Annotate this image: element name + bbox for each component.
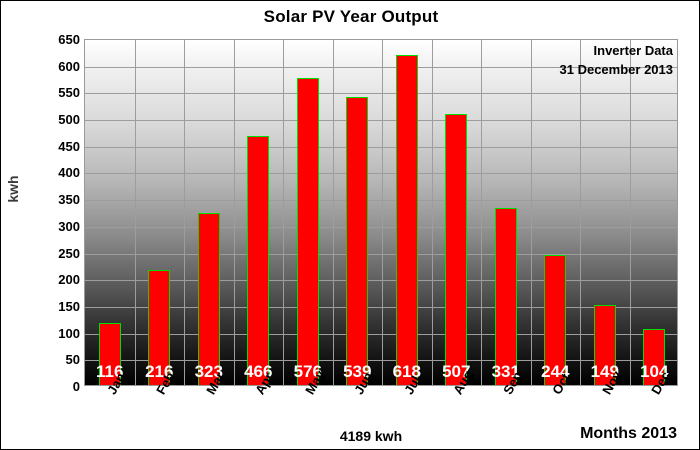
y-axis-label: kwh (5, 159, 21, 219)
y-tick-label: 450 (36, 140, 80, 153)
gridline-vertical (481, 40, 482, 385)
y-tick-label: 250 (36, 247, 80, 260)
gridline-vertical (234, 40, 235, 385)
annotation-block: Inverter Data 31 December 2013 (560, 42, 673, 80)
y-tick-label: 0 (36, 380, 80, 393)
annotation-line-1: Inverter Data (560, 42, 673, 61)
gridline-horizontal (85, 254, 677, 255)
gridline-horizontal (85, 280, 677, 281)
x-axis-label: Months 2013 (580, 425, 677, 443)
bar (346, 97, 368, 385)
gridline-vertical (580, 40, 581, 385)
y-axis-tick-labels: 650600550500450400350300250200150100500 (28, 39, 80, 386)
gridline-vertical (432, 40, 433, 385)
plot-area: 116216323466576539618507331244149104 (84, 39, 678, 386)
y-tick-label: 400 (36, 166, 80, 179)
bar (297, 78, 319, 385)
y-tick-label: 50 (36, 353, 80, 366)
y-tick-label: 200 (36, 273, 80, 286)
bar (445, 114, 467, 385)
y-tick-label: 600 (36, 60, 80, 73)
gridline-horizontal (85, 173, 677, 174)
gridline-vertical (135, 40, 136, 385)
gridline-horizontal (85, 147, 677, 148)
page-title: Solar PV Year Output (1, 7, 700, 27)
gridline-horizontal (85, 120, 677, 121)
gridline-vertical (630, 40, 631, 385)
y-tick-label: 500 (36, 113, 80, 126)
y-tick-label: 300 (36, 220, 80, 233)
y-tick-label: 650 (36, 33, 80, 46)
gridline-vertical (333, 40, 334, 385)
gridline-horizontal (85, 227, 677, 228)
chart-figure: Solar PV Year Output kwh 650600550500450… (0, 0, 700, 450)
bar (247, 136, 269, 385)
bar (198, 213, 220, 385)
gridline-vertical (382, 40, 383, 385)
gridline-horizontal (85, 360, 677, 361)
gridline-horizontal (85, 334, 677, 335)
gridline-horizontal (85, 307, 677, 308)
bar (396, 55, 418, 385)
total-output-label: 4189 kwh (301, 428, 441, 444)
y-tick-label: 100 (36, 327, 80, 340)
gridline-vertical (531, 40, 532, 385)
annotation-line-2: 31 December 2013 (560, 61, 673, 80)
gridline-vertical (184, 40, 185, 385)
y-tick-label: 350 (36, 193, 80, 206)
y-tick-label: 150 (36, 300, 80, 313)
gridline-horizontal (85, 93, 677, 94)
gridline-horizontal (85, 200, 677, 201)
gridline-vertical (283, 40, 284, 385)
bar (495, 208, 517, 385)
y-tick-label: 550 (36, 86, 80, 99)
